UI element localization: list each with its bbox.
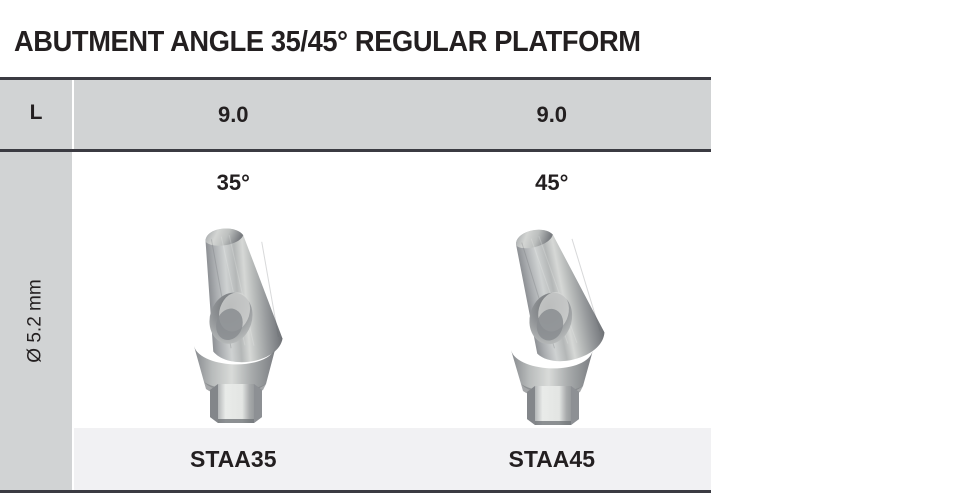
product-spec-page: ABUTMENT ANGLE 35/45° REGULAR PLATFORM L…: [0, 0, 960, 497]
diameter-label-wrapper: Ø 5.2 mm: [0, 152, 72, 490]
header-cell-length-1: 9.0: [74, 80, 393, 149]
product-code-2: STAA45: [393, 428, 712, 490]
length-header-label: L: [0, 77, 72, 149]
product-code-1: STAA35: [74, 428, 393, 490]
angle-cell-2: 45°: [393, 152, 712, 214]
angle-cell-1: 35°: [74, 152, 393, 214]
angle-row: 35° 45°: [74, 152, 711, 214]
product-image-cell-2: [393, 214, 712, 428]
table-bottom-rule: [0, 490, 711, 493]
abutment-illustration-45: [467, 214, 637, 428]
product-code-row: STAA35 STAA45: [74, 428, 711, 490]
abutment-illustration-35: [148, 214, 318, 428]
product-image-row: [74, 214, 711, 428]
header-row: 9.0 9.0: [74, 80, 711, 149]
product-image-cell-1: [74, 214, 393, 428]
table-body: 35° 45°: [74, 152, 711, 490]
specification-table: L Ø 5.2 mm 9.0 9.0 35° 45°: [0, 77, 711, 493]
header-cell-length-2: 9.0: [393, 80, 712, 149]
diameter-label: Ø 5.2 mm: [25, 279, 47, 362]
page-title: ABUTMENT ANGLE 35/45° REGULAR PLATFORM: [14, 26, 641, 59]
